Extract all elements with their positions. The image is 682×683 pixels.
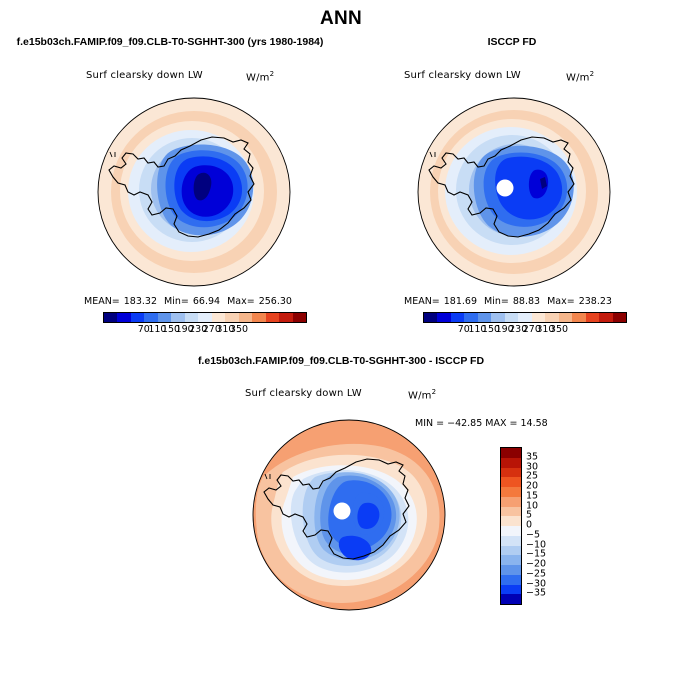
model-map[interactable] (78, 96, 310, 288)
obs-max-value: 238.23 (579, 296, 612, 307)
colorbar-band (545, 313, 558, 322)
colorbar-band (279, 313, 292, 322)
model-units-label: W/m2 (246, 70, 274, 83)
colorbar-tick-label: 350 (550, 324, 568, 335)
colorbar-band (501, 536, 521, 546)
obs-panel-title: ISCCP FD (342, 36, 682, 48)
obs-map-svg (398, 96, 630, 288)
colorbar-band (501, 526, 521, 536)
colorbar-band (225, 313, 238, 322)
colorbar-band (501, 487, 521, 497)
colorbar-band (572, 313, 585, 322)
model-map-svg (78, 96, 310, 288)
colorbar-band (559, 313, 572, 322)
colorbar-tick-label: 350 (230, 324, 248, 335)
obs-pole-data-gap (497, 180, 514, 197)
colorbar-band (613, 313, 626, 322)
difference-minmax: MIN = −42.85 MAX = 14.58 (415, 418, 605, 429)
colorbar-band (491, 313, 504, 322)
colorbar-band (266, 313, 279, 322)
model-min-label: Min= (164, 296, 189, 307)
colorbar-band (464, 313, 477, 322)
model-field-label: Surf clearsky down LW (86, 70, 203, 81)
colorbar-band (252, 313, 265, 322)
obs-field-label: Surf clearsky down LW (404, 70, 521, 81)
model-panel-title: f.e15b03ch.FAMIP.f09_f09.CLB-T0-SGHHT-30… (0, 36, 340, 48)
colorbar-band (185, 313, 198, 322)
colorbar-band (212, 313, 225, 322)
colorbar-band (117, 313, 130, 322)
colorbar-band (586, 313, 599, 322)
difference-map[interactable] (243, 417, 459, 613)
difference-map-svg (243, 417, 459, 613)
difference-panel-title: f.e15b03ch.FAMIP.f09_f09.CLB-T0-SGHHT-30… (0, 355, 682, 367)
obs-colorbar-ticks: 70110150190230270310350 (423, 323, 627, 336)
colorbar-band (171, 313, 184, 322)
colorbar-band (198, 313, 211, 322)
colorbar-band (131, 313, 144, 322)
model-min-value: 66.94 (193, 296, 220, 307)
colorbar-band (599, 313, 612, 322)
colorbar-band (501, 565, 521, 575)
colorbar-band (293, 313, 306, 322)
colorbar-band (501, 546, 521, 556)
difference-colorbar-ticks: 35302520151050−5−10−15−20−25−30−35 (526, 447, 556, 603)
obs-colorbar-bands (423, 312, 627, 323)
obs-stats: MEAN=181.69 Min=88.83 Max=238.23 (404, 296, 616, 307)
obs-min-label: Min= (484, 296, 509, 307)
colorbar-tick-label: −35 (526, 589, 546, 599)
difference-units-label: W/m2 (408, 388, 436, 401)
colorbar-band (501, 468, 521, 478)
colorbar-band (501, 555, 521, 565)
obs-mean-value: 181.69 (444, 296, 477, 307)
difference-colorbar[interactable]: 35302520151050−5−10−15−20−25−30−35 (500, 447, 522, 605)
obs-max-label: Max= (547, 296, 575, 307)
difference-units-text: W/m (408, 390, 432, 401)
model-mean-label: MEAN= (84, 296, 120, 307)
colorbar-band (501, 516, 521, 526)
model-max-value: 256.30 (259, 296, 292, 307)
colorbar-band (501, 585, 521, 595)
model-units-text: W/m (246, 72, 270, 83)
obs-colorbar[interactable]: 70110150190230270310350 (423, 312, 627, 336)
obs-units-label: W/m2 (566, 70, 594, 83)
model-stats: MEAN=183.32 Min=66.94 Max=256.30 (84, 296, 296, 307)
colorbar-band (501, 477, 521, 487)
colorbar-band (239, 313, 252, 322)
colorbar-band (501, 458, 521, 468)
model-mean-value: 183.32 (124, 296, 157, 307)
colorbar-band (478, 313, 491, 322)
colorbar-band (158, 313, 171, 322)
colorbar-band (501, 507, 521, 517)
obs-units-text: W/m (566, 72, 590, 83)
colorbar-band (505, 313, 518, 322)
model-colorbar[interactable]: 70110150190230270310350 (103, 312, 307, 336)
main-title: ANN (0, 8, 682, 30)
colorbar-band (518, 313, 531, 322)
colorbar-band (501, 448, 521, 458)
difference-field-label: Surf clearsky down LW (245, 388, 362, 399)
colorbar-band (424, 313, 437, 322)
model-colorbar-ticks: 70110150190230270310350 (103, 323, 307, 336)
colorbar-band (501, 497, 521, 507)
model-max-label: Max= (227, 296, 255, 307)
obs-units-exponent: 2 (590, 70, 595, 78)
colorbar-band (532, 313, 545, 322)
difference-colorbar-bands (500, 447, 522, 605)
colorbar-band (501, 594, 521, 604)
obs-min-value: 88.83 (513, 296, 540, 307)
colorbar-band (437, 313, 450, 322)
colorbar-band (501, 575, 521, 585)
difference-units-exponent: 2 (432, 388, 437, 396)
obs-mean-label: MEAN= (404, 296, 440, 307)
model-colorbar-bands (103, 312, 307, 323)
colorbar-band (104, 313, 117, 322)
obs-map[interactable] (398, 96, 630, 288)
model-units-exponent: 2 (270, 70, 275, 78)
colorbar-band (451, 313, 464, 322)
colorbar-band (144, 313, 157, 322)
difference-pole-data-gap (334, 503, 351, 520)
